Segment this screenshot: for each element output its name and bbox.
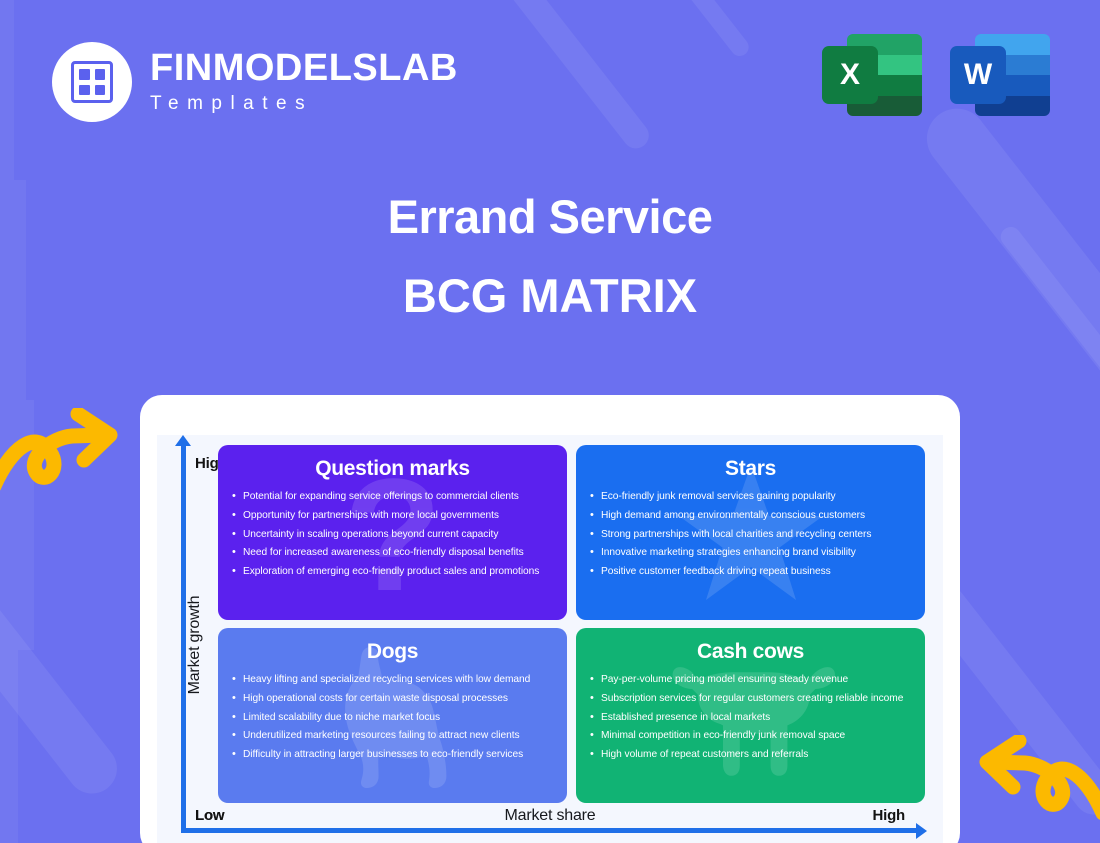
list-item: Need for increased awareness of eco-frie… xyxy=(230,546,555,560)
grid-squares-icon xyxy=(71,61,113,103)
quadrant-title: Dogs xyxy=(230,640,555,664)
list-item: Exploration of emerging eco-friendly pro… xyxy=(230,565,555,579)
list-item: Difficulty in attracting larger business… xyxy=(230,748,555,762)
list-item: Limited scalability due to niche market … xyxy=(230,711,555,725)
list-item: Underutilized marketing resources failin… xyxy=(230,729,555,743)
list-item: Heavy lifting and specialized recycling … xyxy=(230,673,555,687)
squiggly-arrow-up-right-icon xyxy=(0,408,127,508)
header-bar: FINMODELSLAB Templates X W xyxy=(0,0,1100,160)
quadrant-dogs[interactable]: Dogs Heavy lifting and specialized recyc… xyxy=(218,628,567,803)
quadrant-bullet-list: Potential for expanding service offering… xyxy=(230,490,555,579)
list-item: Uncertainty in scaling operations beyond… xyxy=(230,528,555,542)
page-title-line-1: Errand Service xyxy=(0,190,1100,244)
logo-circle xyxy=(52,42,132,122)
x-axis-title: Market share xyxy=(157,807,943,825)
x-axis-low-label: Low xyxy=(195,807,224,824)
page-title: Errand Service BCG MATRIX xyxy=(0,190,1100,323)
brand-text: FINMODELSLAB Templates xyxy=(150,49,458,115)
list-item: Strong partnerships with local charities… xyxy=(588,528,913,542)
microsoft-word-icon[interactable]: W xyxy=(950,26,1050,122)
list-item: High operational costs for certain waste… xyxy=(230,692,555,706)
quadrant-grid: ? Question marks Potential for expanding… xyxy=(218,445,925,803)
list-item: Opportunity for partnerships with more l… xyxy=(230,509,555,523)
squiggly-arrow-down-left-icon xyxy=(970,735,1100,835)
quadrant-title: Stars xyxy=(588,457,913,481)
list-item: Potential for expanding service offering… xyxy=(230,490,555,504)
page-title-line-2: BCG MATRIX xyxy=(0,269,1100,323)
y-axis-title: Market growth xyxy=(186,575,204,715)
quadrant-title: Question marks xyxy=(230,457,555,481)
x-axis-arrowhead xyxy=(916,823,927,839)
quadrant-cash-cows[interactable]: Cash cows Pay-per-volume pricing model e… xyxy=(576,628,925,803)
list-item: Established presence in local markets xyxy=(588,711,913,725)
x-axis-line xyxy=(181,828,919,833)
list-item: Eco-friendly junk removal services gaini… xyxy=(588,490,913,504)
bcg-matrix-card: High Low High Market growth Market share… xyxy=(140,395,960,843)
quadrant-title: Cash cows xyxy=(588,640,913,664)
list-item: Positive customer feedback driving repea… xyxy=(588,565,913,579)
list-item: Innovative marketing strategies enhancin… xyxy=(588,546,913,560)
microsoft-excel-icon[interactable]: X xyxy=(822,26,922,122)
list-item: Subscription services for regular custom… xyxy=(588,692,913,706)
excel-badge-letter: X xyxy=(822,46,878,104)
quadrant-bullet-list: Eco-friendly junk removal services gaini… xyxy=(588,490,913,579)
brand-subtitle: Templates xyxy=(150,93,458,115)
quadrant-bullet-list: Heavy lifting and specialized recycling … xyxy=(230,673,555,762)
quadrant-question-marks[interactable]: ? Question marks Potential for expanding… xyxy=(218,445,567,620)
brand-logo[interactable]: FINMODELSLAB Templates xyxy=(52,42,458,122)
list-item: Minimal competition in eco-friendly junk… xyxy=(588,729,913,743)
list-item: High demand among environmentally consci… xyxy=(588,509,913,523)
office-icons-group: X W xyxy=(822,26,1050,122)
quadrant-stars[interactable]: Stars Eco-friendly junk removal services… xyxy=(576,445,925,620)
quadrant-bullet-list: Pay-per-volume pricing model ensuring st… xyxy=(588,673,913,762)
brand-name: FINMODELSLAB xyxy=(150,49,458,89)
list-item: High volume of repeat customers and refe… xyxy=(588,748,913,762)
matrix-plot-area: High Low High Market growth Market share… xyxy=(157,435,943,843)
y-axis-arrowhead xyxy=(175,435,191,446)
word-badge-letter: W xyxy=(950,46,1006,104)
list-item: Pay-per-volume pricing model ensuring st… xyxy=(588,673,913,687)
